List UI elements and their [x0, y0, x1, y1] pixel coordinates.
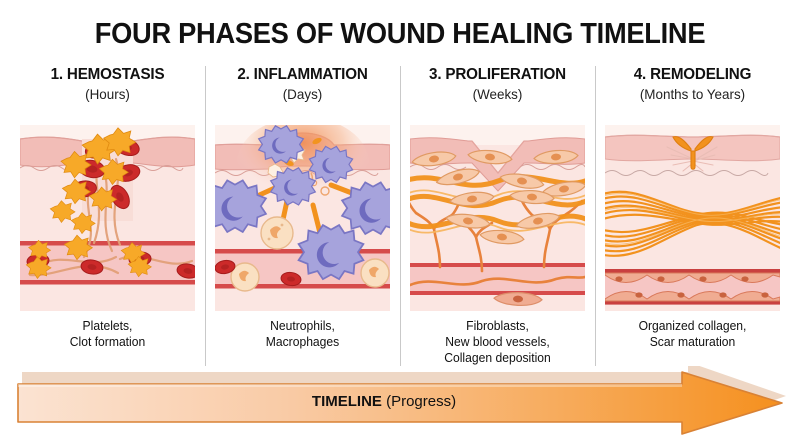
caption-line: Platelets,: [13, 318, 202, 334]
phase-caption: Organized collagen, Scar maturation: [598, 318, 787, 350]
caption-line: Collagen deposition: [403, 350, 592, 366]
inflammation-illustration: [215, 125, 390, 311]
caption-line: Neutrophils,: [208, 318, 397, 334]
phase-duration: (Hours): [14, 86, 201, 102]
phase-duration: (Weeks): [404, 86, 591, 102]
caption-line: Macrophages: [208, 334, 397, 350]
phase-panels: 1. HEMOSTASIS (Hours): [0, 66, 800, 366]
proliferation-illustration: [410, 125, 585, 311]
phase-panel-proliferation: 3. PROLIFERATION (Weeks): [400, 66, 595, 366]
phase-caption: Neutrophils, Macrophages: [208, 318, 397, 350]
phase-duration: (Months to Years): [599, 86, 786, 102]
wound-healing-infographic: FOUR PHASES OF WOUND HEALING TIMELINE 1.…: [0, 0, 800, 446]
phase-duration: (Days): [209, 86, 396, 102]
caption-line: Clot formation: [13, 334, 202, 350]
phase-heading: 4. REMODELING: [600, 66, 785, 84]
timeline-arrow: TIMELINE (Progress): [14, 366, 786, 440]
caption-line: New blood vessels,: [403, 334, 592, 350]
caption-line: Fibroblasts,: [403, 318, 592, 334]
phase-heading: 1. HEMOSTASIS: [15, 66, 200, 84]
phase-heading: 3. PROLIFERATION: [405, 66, 590, 84]
phase-caption: Fibroblasts, New blood vessels, Collagen…: [403, 318, 592, 366]
caption-line: Organized collagen,: [598, 318, 787, 334]
phase-panel-hemostasis: 1. HEMOSTASIS (Hours): [10, 66, 205, 366]
phase-heading: 2. INFLAMMATION: [210, 66, 395, 84]
phase-panel-remodeling: 4. REMODELING (Months to Years): [595, 66, 790, 366]
phase-panel-inflammation: 2. INFLAMMATION (Days): [205, 66, 400, 366]
caption-line: Scar maturation: [598, 334, 787, 350]
page-title: FOUR PHASES OF WOUND HEALING TIMELINE: [24, 18, 776, 51]
hemostasis-illustration: [20, 125, 195, 311]
phase-caption: Platelets, Clot formation: [13, 318, 202, 350]
remodeling-illustration: [605, 125, 780, 311]
